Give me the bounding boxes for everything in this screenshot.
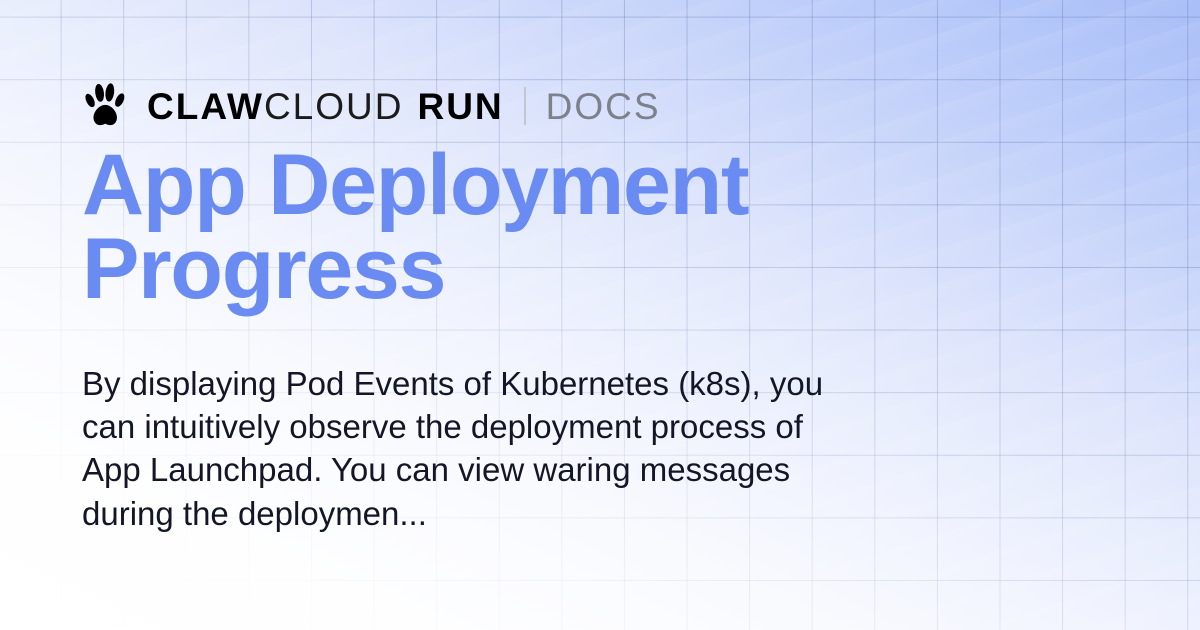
card-content: CLAW CLOUD RUN DOCS App Deployment Progr… xyxy=(82,0,1122,630)
page-description: By displaying Pod Events of Kubernetes (… xyxy=(82,362,857,535)
brand-wordmark: CLAW CLOUD RUN DOCS xyxy=(147,87,661,125)
wordmark-claw: CLAW xyxy=(147,88,264,125)
docs-label: DOCS xyxy=(546,88,661,125)
page-title: App Deployment Progress xyxy=(82,143,872,312)
paw-print-icon xyxy=(82,82,128,130)
brand-header: CLAW CLOUD RUN DOCS xyxy=(82,80,661,132)
wordmark-cloud: CLOUD xyxy=(264,88,404,125)
og-preview-card: CLAW CLOUD RUN DOCS App Deployment Progr… xyxy=(0,0,1200,630)
wordmark-run: RUN xyxy=(417,88,503,125)
brand-divider xyxy=(524,87,526,125)
